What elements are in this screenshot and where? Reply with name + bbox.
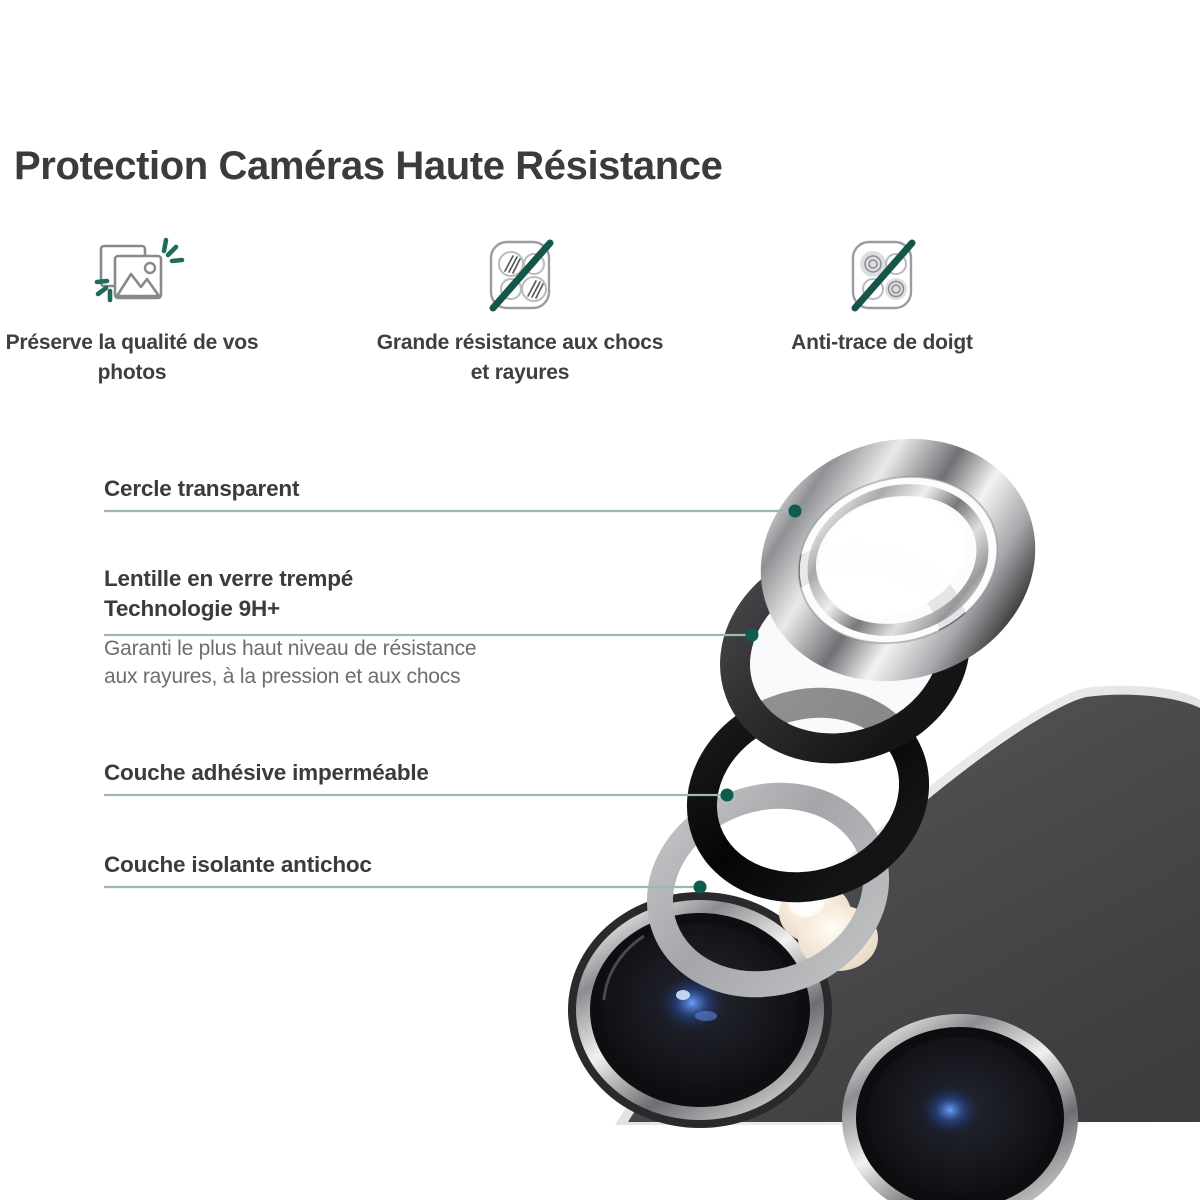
camera-lens-secondary [842, 1014, 1078, 1200]
callout-couche-adhesive: Couche adhésive imperméable [104, 758, 429, 788]
camera-module-scratch-crossed-icon [370, 236, 670, 316]
page-title: Protection Caméras Haute Résistance [14, 144, 723, 189]
feature-label: Grande résistance aux chocs et rayures [370, 328, 670, 388]
callout-title: Lentille en verre trempé Technologie 9H+ [104, 564, 476, 624]
connector-endpoint-dot-1 [746, 629, 759, 642]
feature-anti-fingerprint: Anti-trace de doigt [742, 236, 1022, 358]
photo-gallery-sparkle-icon [2, 236, 262, 316]
feature-shock-scratch-resistance: Grande résistance aux chocs et rayures [370, 236, 670, 388]
tempered-glass-lens-ring [708, 527, 982, 778]
feature-label: Anti-trace de doigt [742, 328, 1022, 358]
adhesive-layer-ring [676, 673, 941, 916]
callout-lentille-verre-trempe: Lentille en verre trempé Technologie 9H+… [104, 564, 476, 692]
camera-flash-led [779, 883, 878, 971]
connector-endpoint-dot-2 [721, 789, 734, 802]
phone-body [615, 686, 1200, 1125]
callout-description: Garanti le plus haut niveau de résistanc… [104, 635, 476, 692]
infographic-root: Protection Caméras Haute Résistance Prés… [0, 0, 1200, 1200]
callout-title: Couche adhésive imperméable [104, 758, 429, 788]
feature-label: Préserve la qualité de vos photos [2, 328, 262, 388]
callout-title: Cercle transparent [104, 474, 299, 504]
callout-cercle-transparent: Cercle transparent [104, 474, 299, 504]
callout-couche-isolante: Couche isolante antichoc [104, 850, 372, 880]
camera-lens-primary [568, 892, 832, 1128]
feature-preserve-photo-quality: Préserve la qualité de vos photos [2, 236, 262, 388]
callout-title: Couche isolante antichoc [104, 850, 372, 880]
connector-endpoint-dot-0 [789, 505, 802, 518]
camera-module-fingerprint-crossed-icon [742, 236, 1022, 316]
connector-endpoint-dot-3 [694, 881, 707, 894]
transparent-metal-ring [753, 428, 1043, 692]
insulating-layer-ring [633, 766, 903, 1014]
